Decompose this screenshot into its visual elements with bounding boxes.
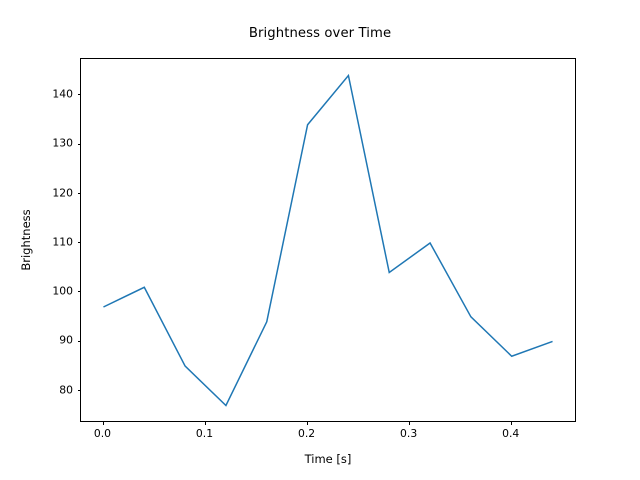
x-tick-label: 0.0 xyxy=(94,427,111,440)
y-tick-label: 120 xyxy=(0,186,73,199)
y-tick-mark xyxy=(78,193,82,194)
x-tick-mark xyxy=(103,421,104,425)
line-series-svg xyxy=(81,59,575,422)
plot-area xyxy=(80,58,576,423)
figure-canvas: Brightness over Time Brightness Time [s]… xyxy=(0,0,640,480)
x-tick-label: 0.1 xyxy=(196,427,213,440)
x-tick-label: 0.2 xyxy=(298,427,315,440)
y-tick-mark xyxy=(78,94,82,95)
y-tick-mark xyxy=(78,242,82,243)
x-tick-mark xyxy=(307,421,308,425)
y-tick-mark xyxy=(78,291,82,292)
y-tick-label: 130 xyxy=(0,137,73,150)
y-tick-mark xyxy=(78,341,82,342)
chart-title: Brightness over Time xyxy=(0,26,640,41)
x-tick-mark xyxy=(409,421,410,425)
y-tick-mark xyxy=(78,144,82,145)
x-axis-label: Time [s] xyxy=(80,452,576,466)
y-tick-label: 90 xyxy=(0,334,73,347)
brightness-line xyxy=(103,75,552,405)
y-tick-label: 110 xyxy=(0,235,73,248)
y-tick-mark xyxy=(78,390,82,391)
y-tick-label: 140 xyxy=(0,88,73,101)
y-tick-label: 100 xyxy=(0,285,73,298)
x-tick-mark xyxy=(511,421,512,425)
x-tick-label: 0.3 xyxy=(400,427,417,440)
x-tick-label: 0.4 xyxy=(502,427,519,440)
x-tick-mark xyxy=(205,421,206,425)
y-tick-label: 80 xyxy=(0,383,73,396)
